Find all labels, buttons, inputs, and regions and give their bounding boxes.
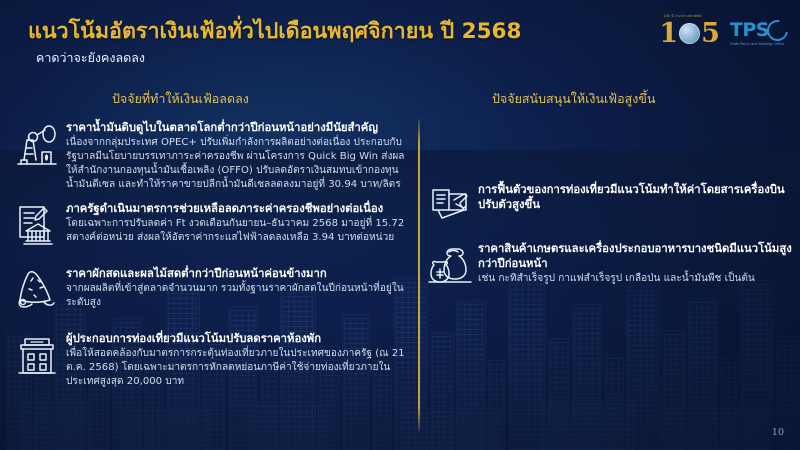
oil-rig-icon [8,120,66,176]
globe-icon [679,23,700,44]
anniversary-digit-right: 5 [701,20,720,47]
list-item-text: ราคาน้ำมันดิบดูไบในตลาดโลกต่ำกว่าปีก่อนห… [66,120,408,192]
list-item-text: ราคาผักสดและผลไม้สดต่ำกว่าปีก่อนหน้าค่อน… [66,266,408,310]
list-item-headline: ภาครัฐดำเนินมาตรการช่วยเหลือลดภาระค่าครอ… [66,201,408,216]
list-item: ราคาสินค้าเกษตรและเครื่องประกอบอาหารบางช… [424,241,794,291]
list-item-text: ผู้ประกอบการท่องเที่ยวมีแนวโน้มปรับลดราค… [66,331,408,389]
list-item-text: การฟื้นตัวของการท่องเที่ยวมีแนวโน้มทำให้… [478,182,794,212]
list-item: การฟื้นตัวของการท่องเที่ยวมีแนวโน้มทำให้… [424,182,794,232]
list-item-headline: ราคาสินค้าเกษตรและเครื่องประกอบอาหารบางช… [478,241,794,271]
list-item: ราคาน้ำมันดิบดูไบในตลาดโลกต่ำกว่าปีก่อนห… [8,120,408,192]
tpso-wordmark-row: TPS [730,20,788,41]
list-item-detail: เนื่องจากกลุ่มประเทศ OPEC+ ปรับเพิ่มกำลั… [66,136,408,192]
grain-sacks-icon [424,241,478,291]
list-item-text: ภาครัฐดำเนินมาตรการช่วยเหลือลดภาระค่าครอ… [66,201,408,245]
column-divider [418,119,420,431]
list-item-headline: ราคาน้ำมันดิบดูไบในตลาดโลกต่ำกว่าปีก่อนห… [66,120,408,135]
government-document-icon [8,201,66,257]
anniversary-105-logo: 105 ปี กระทรวงพาณิชย์ 1 5 [659,16,720,50]
list-item-headline: ราคาผักสดและผลไม้สดต่ำกว่าปีก่อนหน้าค่อน… [66,266,408,281]
tpso-wordmark: TPS [730,21,769,40]
logo-group: 105 ปี กระทรวงพาณิชย์ 1 5 TPS Trade Poli… [659,16,788,50]
right-column-heading: ปัจจัยสนับสนุนให้เงินเฟ้อสูงขึ้น [492,89,655,109]
list-item: ผู้ประกอบการท่องเที่ยวมีแนวโน้มปรับลดราค… [8,331,408,389]
boarding-pass-icon [424,182,478,232]
list-item-detail: จากผลผลิตที่เข้าสู่ตลาดจำนวนมาก รวมทั้งฐ… [66,282,408,310]
list-item-detail: โดยเฉพาะการปรับลดค่า Ft งวดเดือนกันยายน–… [66,217,408,245]
list-item-headline: ผู้ประกอบการท่องเที่ยวมีแนวโน้มปรับลดราค… [66,331,408,346]
page-number: 10 [772,427,784,438]
tpso-logo: TPS Trade Policy and Strategy Office [730,20,788,46]
page-title: แนวโน้มอัตราเงินเฟ้อทั่วไปเดือนพฤศจิกายน… [28,14,521,48]
right-factor-list: การฟื้นตัวของการท่องเที่ยวมีแนวโน้มทำให้… [424,182,794,300]
left-column-heading: ปัจจัยที่ทำให้เงินเฟ้อลดลง [112,89,249,109]
left-factor-list: ราคาน้ำมันดิบดูไบในตลาดโลกต่ำกว่าปีก่อนห… [8,120,408,397]
list-item-detail: เพื่อให้สอดคล้องกับมาตรการกระตุ้นท่องเที… [66,347,408,389]
list-item-detail: เช่น กะทิสำเร็จรูป กาแฟสำเร็จรูป เกลือป่… [478,272,794,286]
vegetables-icon [8,266,66,322]
list-item: ภาครัฐดำเนินมาตรการช่วยเหลือลดภาระค่าครอ… [8,201,408,257]
list-item-headline: การฟื้นตัวของการท่องเที่ยวมีแนวโน้มทำให้… [478,182,794,212]
hotel-building-icon [8,331,66,387]
tpso-tagline: Trade Policy and Strategy Office [730,43,784,46]
page-subtitle: คาดว่าจะยังคงลดลง [36,48,145,68]
anniversary-digit-left: 1 [659,20,678,47]
anniversary-logo-caption: 105 ปี กระทรวงพาณิชย์ [663,14,701,19]
list-item: ราคาผักสดและผลไม้สดต่ำกว่าปีก่อนหน้าค่อน… [8,266,408,322]
slide-root: แนวโน้มอัตราเงินเฟ้อทั่วไปเดือนพฤศจิกายน… [0,0,800,450]
list-item-text: ราคาสินค้าเกษตรและเครื่องประกอบอาหารบางช… [478,241,794,286]
